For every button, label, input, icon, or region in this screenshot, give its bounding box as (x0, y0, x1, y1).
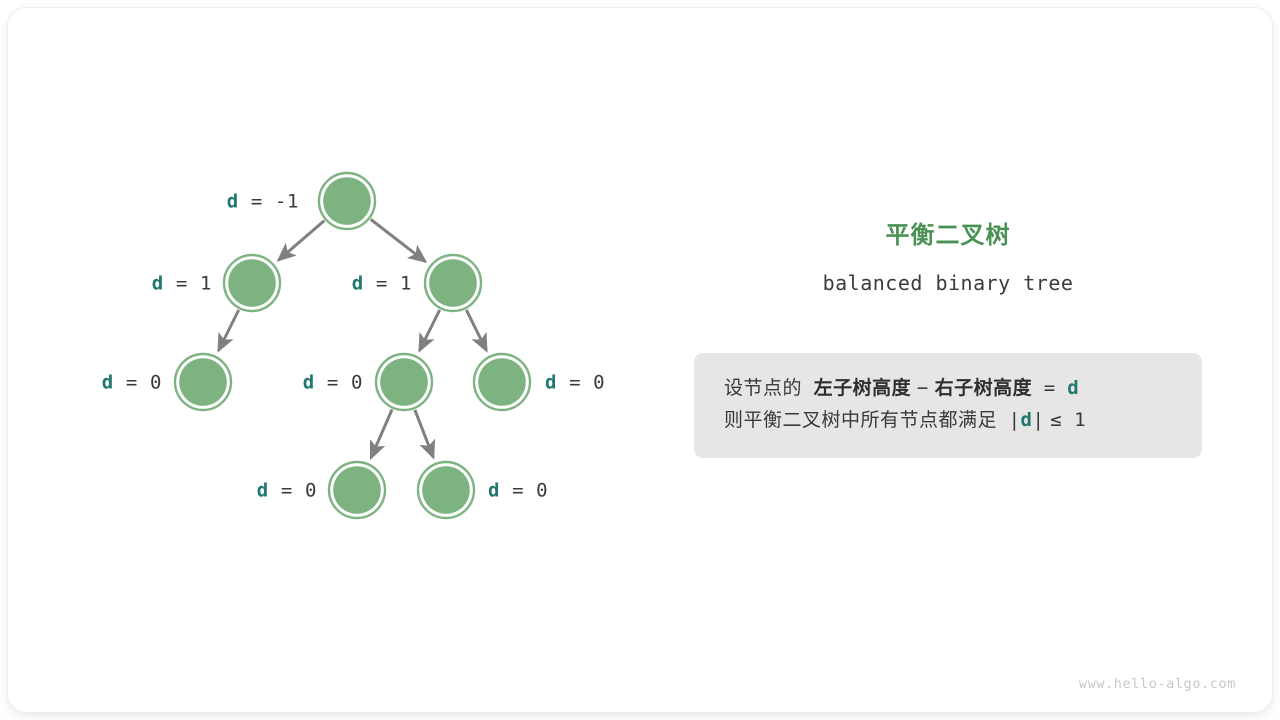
note-abs-bar-open: | (1009, 409, 1021, 431)
balance-factor-value: = -1 (239, 191, 299, 213)
tree-node (418, 462, 474, 518)
balance-factor-value: = 0 (500, 480, 548, 502)
balance-factor-value: = 0 (557, 372, 605, 394)
balance-factor-value: = 0 (114, 372, 162, 394)
tree-node (175, 354, 231, 410)
tree-edge (420, 310, 440, 351)
balance-factor-symbol: d (303, 372, 315, 394)
panel-subtitle: balanced binary tree (694, 271, 1202, 295)
balance-factor-label: d = 0 (102, 374, 162, 393)
note-d-variable-1: d (1067, 377, 1079, 399)
balance-factor-symbol: d (102, 372, 114, 394)
balance-factor-symbol: d (152, 273, 164, 295)
tree-node (474, 354, 530, 410)
tree-node-disc (333, 466, 381, 514)
balance-factor-value: = 0 (269, 480, 317, 502)
balance-factor-label: d = -1 (227, 193, 299, 212)
definition-line-1: 设节点的 左子树高度 − 右子树高度 = d (724, 373, 1172, 405)
note-equals-sign: = (1044, 377, 1056, 399)
note-abs-bar-close: | (1032, 409, 1044, 431)
balance-factor-symbol: d (488, 480, 500, 502)
tree-edge (466, 310, 486, 351)
balance-factor-value: = 0 (315, 372, 363, 394)
balance-factor-symbol: d (352, 273, 364, 295)
balance-factor-label: d = 0 (257, 482, 317, 501)
note-minus-sign: − (917, 377, 929, 399)
tree-edge (371, 219, 426, 261)
definition-line-2: 则平衡二叉树中所有节点都满足 |d| ≤ 1 (724, 405, 1172, 437)
tree-node-disc (380, 358, 428, 406)
balance-factor-value: = 1 (164, 273, 212, 295)
balance-factor-label: d = 0 (545, 374, 605, 393)
tree-edge (278, 221, 324, 261)
screenshot-canvas: d = -1d = 1d = 1d = 0d = 0d = 0d = 0d = … (0, 0, 1280, 720)
tree-node-disc (179, 358, 227, 406)
balance-factor-symbol: d (545, 372, 557, 394)
tree-node (376, 354, 432, 410)
tree-edge (219, 310, 239, 351)
panel-title: 平衡二叉树 (694, 222, 1202, 251)
balance-factor-label: d = 1 (352, 275, 412, 294)
tree-node (224, 255, 280, 311)
tree-edge (415, 410, 433, 457)
tree-node-disc (478, 358, 526, 406)
note-inequality: ≤ 1 (1050, 409, 1086, 431)
tree-node-disc (422, 466, 470, 514)
tree-node-disc (429, 259, 477, 307)
tree-node (425, 255, 481, 311)
tree-nodes (175, 173, 530, 518)
tree-node-disc (228, 259, 276, 307)
tree-edge (371, 410, 392, 458)
note-right-subtree-height: 右子树高度 (935, 378, 1033, 399)
balance-factor-label: d = 0 (488, 482, 548, 501)
balance-factor-symbol: d (227, 191, 239, 213)
tree-node-disc (323, 177, 371, 225)
tree-node (329, 462, 385, 518)
note-line2-prefix: 则平衡二叉树中所有节点都满足 (724, 410, 997, 431)
balance-factor-value: = 1 (364, 273, 412, 295)
tree-node (319, 173, 375, 229)
balance-factor-label: d = 0 (303, 374, 363, 393)
balance-factor-label: d = 1 (152, 275, 212, 294)
note-line1-prefix: 设节点的 (724, 378, 802, 399)
note-left-subtree-height: 左子树高度 (814, 378, 912, 399)
site-watermark: www.hello-algo.com (1079, 676, 1236, 692)
info-panel: 平衡二叉树 balanced binary tree 设节点的 左子树高度 − … (694, 222, 1202, 458)
definition-note-box: 设节点的 左子树高度 − 右子树高度 = d 则平衡二叉树中所有节点都满足 |d… (694, 353, 1202, 459)
balance-factor-symbol: d (257, 480, 269, 502)
note-d-variable-2: d (1021, 409, 1033, 431)
